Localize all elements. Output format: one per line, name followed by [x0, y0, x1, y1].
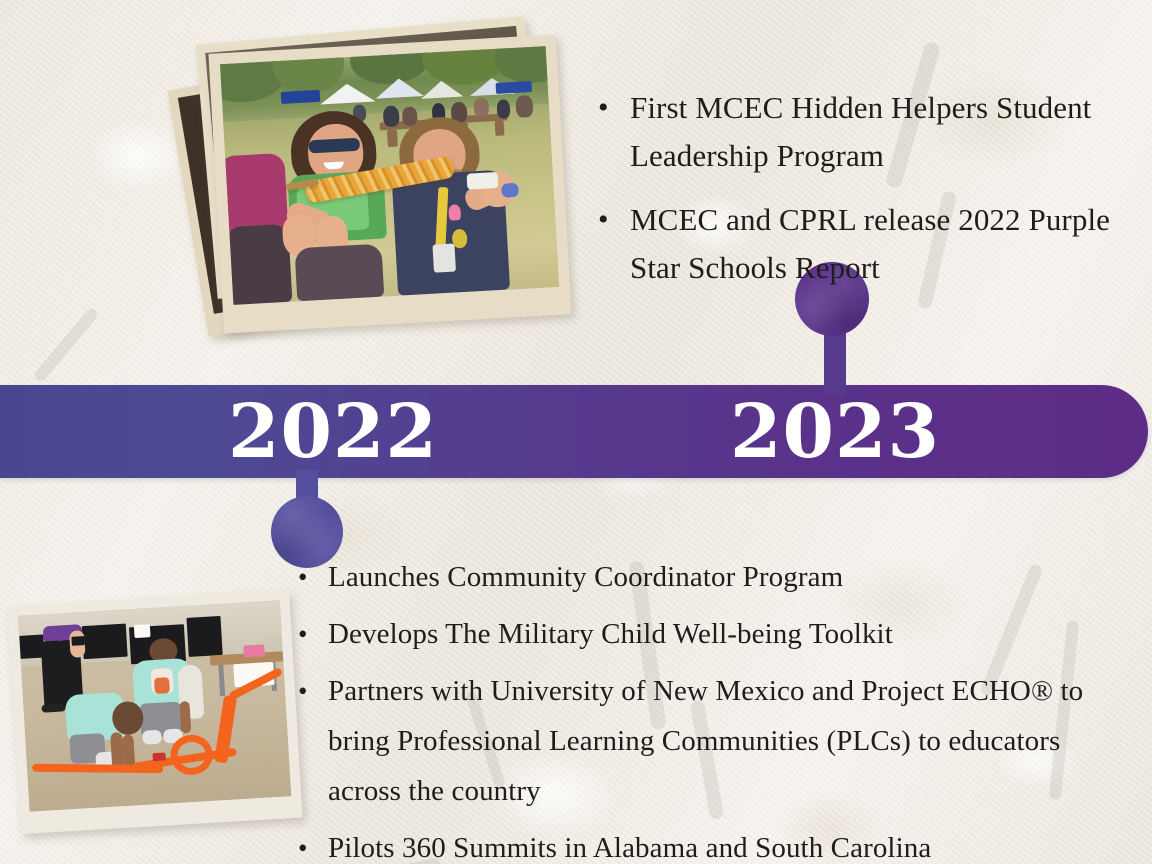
milestone-list-2023: • First MCEC Hidden Helpers Student Lead…	[598, 84, 1118, 308]
timeline-slide: 2022 2023 • First MCEC Hidden Helpers St…	[0, 0, 1152, 864]
milestone-list-2022: • Launches Community Coordinator Program…	[298, 552, 1108, 864]
milestone-text: Partners with University of New Mexico a…	[328, 666, 1108, 816]
bullet-icon: •	[298, 666, 328, 716]
photo-image-students-outdoor	[220, 46, 559, 305]
children-building-track-photo	[7, 590, 302, 834]
list-item: • First MCEC Hidden Helpers Student Lead…	[598, 84, 1118, 180]
bullet-icon: •	[598, 196, 630, 244]
list-item: • Develops The Military Child Well-being…	[298, 609, 1108, 659]
list-item: • MCEC and CPRL release 2022 Purple Star…	[598, 196, 1118, 292]
milestone-text: Launches Community Coordinator Program	[328, 552, 843, 602]
milestone-text: First MCEC Hidden Helpers Student Leader…	[630, 84, 1118, 180]
bullet-icon: •	[298, 552, 328, 602]
year-label-2023: 2023	[730, 386, 940, 478]
list-item: • Launches Community Coordinator Program	[298, 552, 1108, 602]
bullet-icon: •	[598, 84, 630, 132]
students-outdoor-event-photo	[208, 35, 571, 334]
timeline-bar	[0, 385, 1148, 478]
milestone-text: Pilots 360 Summits in Alabama and South …	[328, 823, 931, 864]
bullet-icon: •	[298, 609, 328, 659]
list-item: • Pilots 360 Summits in Alabama and Sout…	[298, 823, 1108, 864]
bullet-icon: •	[298, 823, 328, 864]
milestone-text: Develops The Military Child Well-being T…	[328, 609, 893, 659]
milestone-text: MCEC and CPRL release 2022 Purple Star S…	[630, 196, 1118, 292]
list-item: • Partners with University of New Mexico…	[298, 666, 1108, 816]
photo-image-children-track	[18, 600, 291, 811]
top-photo-collage	[176, 22, 596, 342]
year-label-2022: 2022	[228, 386, 438, 478]
